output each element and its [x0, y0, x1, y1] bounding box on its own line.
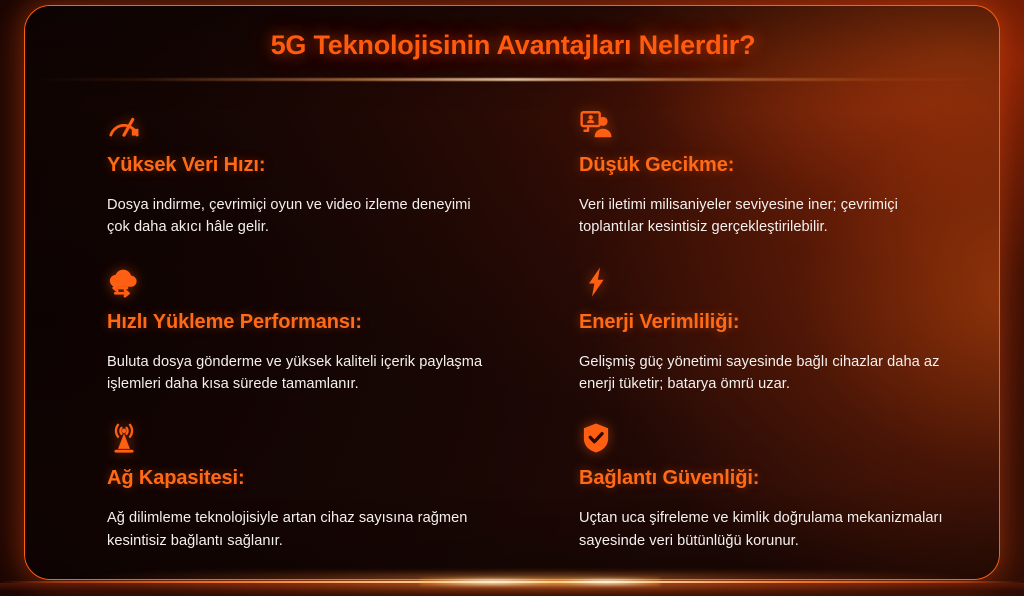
features-grid: Yüksek Veri Hızı: Dosya indirme, çevrimi…	[25, 102, 1000, 572]
feature-item: Enerji Verimliliği: Gelişmiş güç yönetim…	[513, 259, 1000, 416]
infographic-slide: 5G Teknolojisinin Avantajları Nelerdir? …	[0, 0, 1024, 596]
feature-heading: Yüksek Veri Hızı:	[107, 154, 487, 177]
lightning-bolt-icon	[579, 265, 613, 299]
page-title: 5G Teknolojisinin Avantajları Nelerdir?	[271, 30, 756, 61]
feature-body: Veri iletimi milisaniyeler seviyesine in…	[579, 194, 951, 238]
cloud-transfer-icon	[107, 265, 141, 299]
feature-body: Dosya indirme, çevrimiçi oyun ve video i…	[107, 194, 487, 238]
speedometer-icon	[107, 108, 141, 142]
feature-heading: Enerji Verimliliği:	[579, 311, 975, 334]
title-underline-glow	[25, 78, 1000, 81]
video-conference-icon	[579, 108, 613, 142]
feature-heading: Düşük Gecikme:	[579, 154, 975, 177]
feature-item: Bağlantı Güvenliği: Uçtan uca şifreleme …	[513, 415, 1000, 572]
feature-body: Ağ dilimleme teknolojisiyle artan cihaz …	[107, 507, 487, 551]
feature-heading: Bağlantı Güvenliği:	[579, 467, 975, 490]
feature-body: Buluta dosya gönderme ve yüksek kaliteli…	[107, 351, 487, 395]
feature-body: Gelişmiş güç yönetimi sayesinde bağlı ci…	[579, 351, 951, 395]
title-container: 5G Teknolojisinin Avantajları Nelerdir?	[25, 30, 1000, 61]
content-card: 5G Teknolojisinin Avantajları Nelerdir? …	[24, 5, 1000, 580]
bottom-light-bar	[0, 581, 1024, 583]
broadcast-tower-icon	[107, 421, 141, 455]
feature-body: Uçtan uca şifreleme ve kimlik doğrulama …	[579, 507, 951, 551]
feature-item: Düşük Gecikme: Veri iletimi milisaniyele…	[513, 102, 1000, 259]
feature-item: Ağ Kapasitesi: Ağ dilimleme teknolojisiy…	[25, 415, 513, 572]
feature-heading: Hızlı Yükleme Performansı:	[107, 311, 487, 334]
feature-item: Yüksek Veri Hızı: Dosya indirme, çevrimi…	[25, 102, 513, 259]
shield-check-icon	[579, 421, 613, 455]
feature-heading: Ağ Kapasitesi:	[107, 467, 487, 490]
feature-item: Hızlı Yükleme Performansı: Buluta dosya …	[25, 259, 513, 416]
